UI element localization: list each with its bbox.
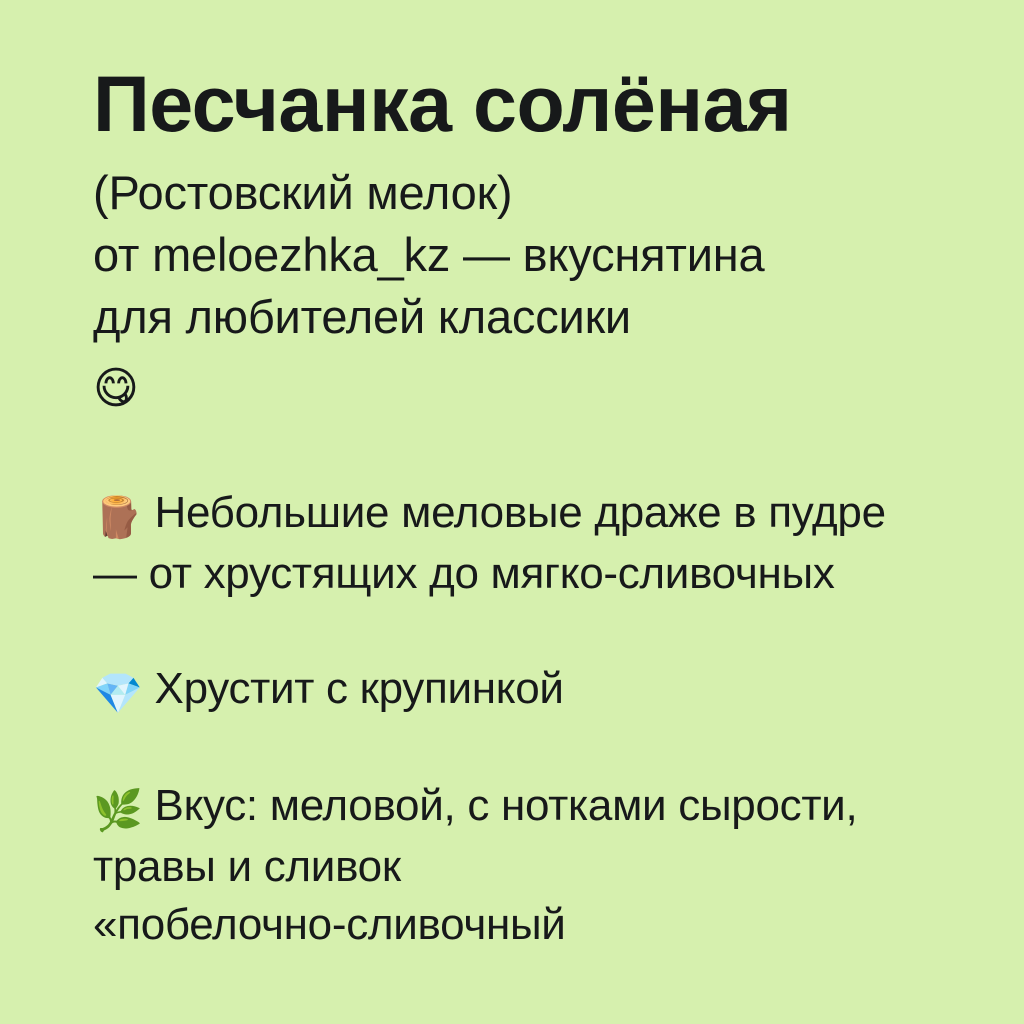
feature-line-text: Небольшие меловые драже в пудре: [155, 488, 886, 537]
feature-list: 🪵Небольшие меловые драже в пудре — от хр…: [93, 484, 936, 955]
subtitle-line-3: для любителей классики: [93, 286, 936, 348]
title-block: Песчанка солёная: [93, 0, 936, 146]
herb-emoji: 🌿: [93, 785, 143, 838]
feature-item-wood: 🪵Небольшие меловые драже в пудре — от хр…: [93, 484, 936, 604]
subtitle-block: (Ростовский мелок) от meloezhka_kz — вку…: [93, 162, 936, 412]
feature-text-herb: 🌿Вкус: меловой, с нотками сырости, травы…: [93, 777, 936, 955]
gem-stone-emoji: 💎: [93, 668, 143, 721]
feature-line: 💎Хрустит с крупинкой: [93, 660, 936, 721]
feature-text-gem: 💎Хрустит с крупинкой: [93, 660, 936, 721]
feature-line: «побелочно-сливочный: [93, 896, 936, 955]
feature-item-herb: 🌿Вкус: меловой, с нотками сырости, травы…: [93, 777, 936, 955]
subtitle-line-1: (Ростовский мелок): [93, 162, 936, 224]
mood-emoji-line: 😋: [93, 350, 936, 412]
promo-poster: Песчанка солёная (Ростовский мелок) от m…: [0, 0, 1024, 1024]
feature-item-gem: 💎Хрустит с крупинкой: [93, 660, 936, 721]
page-title: Песчанка солёная: [93, 62, 936, 146]
subtitle-line-2: от meloezhka_kz — вкуснятина: [93, 224, 936, 286]
feature-line: травы и сливок: [93, 838, 936, 897]
face-savoring-food-emoji: 😋: [93, 367, 139, 411]
feature-line-text: Хрустит с крупинкой: [155, 664, 564, 713]
feature-line: 🌿Вкус: меловой, с нотками сырости,: [93, 777, 936, 838]
wood-log-emoji: 🪵: [93, 492, 143, 545]
feature-line-text: Вкус: меловой, с нотками сырости,: [155, 781, 858, 830]
feature-text-wood: 🪵Небольшие меловые драже в пудре — от хр…: [93, 484, 936, 604]
feature-line: — от хрустящих до мягко-сливочных: [93, 545, 936, 604]
feature-line: 🪵Небольшие меловые драже в пудре: [93, 484, 936, 545]
